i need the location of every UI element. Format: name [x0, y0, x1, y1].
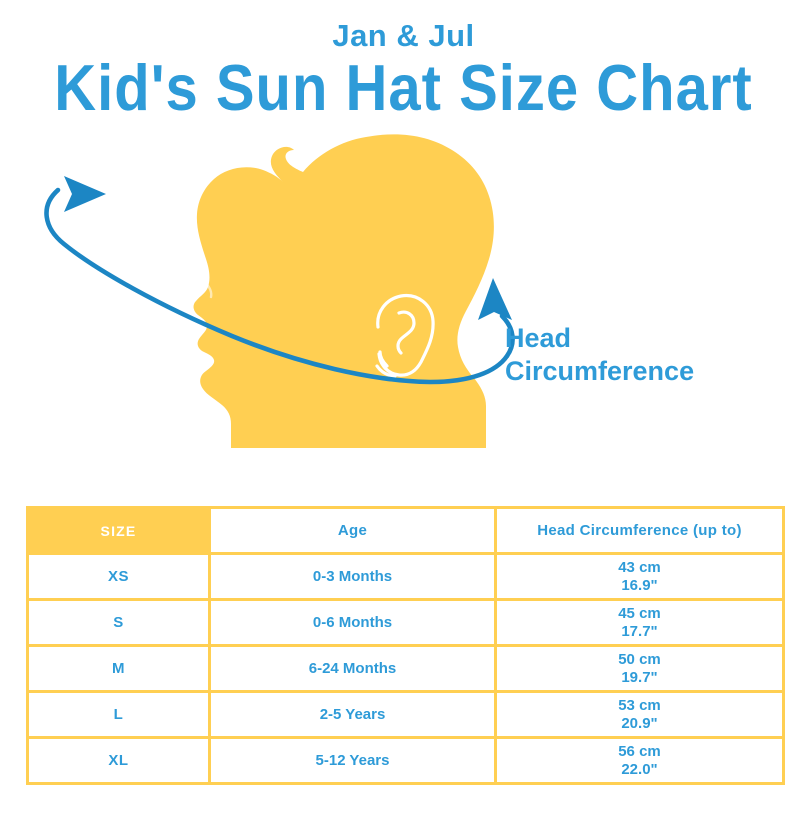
value-inches: 19.7" — [498, 669, 781, 687]
table-row: XS0-3 Months43 cm16.9" — [28, 554, 784, 600]
value-cm: 53 cm — [498, 697, 781, 715]
value-cm: 45 cm — [498, 605, 781, 623]
measure-label-line1: Head — [505, 323, 571, 353]
table-row: S0-6 Months45 cm17.7" — [28, 600, 784, 646]
cell-age: 0-6 Months — [210, 600, 496, 646]
cell-head-circumference: 43 cm16.9" — [496, 554, 784, 600]
arrowhead-left-icon — [64, 176, 106, 212]
brand-name: Jan & Jul — [0, 20, 807, 51]
column-header-head-circumference: Head Circumference (up to) — [496, 508, 784, 554]
cell-size: XS — [28, 554, 210, 600]
measure-label-line2: Circumference — [505, 356, 694, 386]
table-body: XS0-3 Months43 cm16.9"S0-6 Months45 cm17… — [28, 554, 784, 784]
value-inches: 20.9" — [498, 715, 781, 733]
page-title: Kid's Sun Hat Size Chart — [0, 55, 807, 123]
value-cm: 43 cm — [498, 559, 781, 577]
cell-size: S — [28, 600, 210, 646]
cell-head-circumference: 45 cm17.7" — [496, 600, 784, 646]
page-header: Jan & Jul Kid's Sun Hat Size Chart — [0, 0, 807, 116]
column-header-age: Age — [210, 508, 496, 554]
column-header-size: SIZE — [28, 508, 210, 554]
value-inches: 17.7" — [498, 623, 781, 641]
cell-size: M — [28, 646, 210, 692]
cell-head-circumference: 50 cm19.7" — [496, 646, 784, 692]
table-row: L2-5 Years53 cm20.9" — [28, 692, 784, 738]
cell-size: XL — [28, 738, 210, 784]
head-measurement-illustration: Head Circumference — [0, 128, 807, 448]
table-header-row: SIZE Age Head Circumference (up to) — [28, 508, 784, 554]
cell-head-circumference: 56 cm22.0" — [496, 738, 784, 784]
cell-head-circumference: 53 cm20.9" — [496, 692, 784, 738]
cell-age: 6-24 Months — [210, 646, 496, 692]
cell-size: L — [28, 692, 210, 738]
size-chart-table: SIZE Age Head Circumference (up to) XS0-… — [26, 506, 785, 785]
cell-age: 2-5 Years — [210, 692, 496, 738]
child-head-profile-icon — [194, 134, 494, 448]
cell-age: 5-12 Years — [210, 738, 496, 784]
table-row: XL5-12 Years56 cm22.0" — [28, 738, 784, 784]
table-header: SIZE Age Head Circumference (up to) — [28, 508, 784, 554]
cell-age: 0-3 Months — [210, 554, 496, 600]
value-cm: 50 cm — [498, 651, 781, 669]
value-inches: 16.9" — [498, 577, 781, 595]
value-cm: 56 cm — [498, 743, 781, 761]
table-row: M6-24 Months50 cm19.7" — [28, 646, 784, 692]
value-inches: 22.0" — [498, 761, 781, 779]
size-chart-table-container: SIZE Age Head Circumference (up to) XS0-… — [26, 506, 782, 785]
arrowhead-right-icon — [478, 278, 512, 320]
